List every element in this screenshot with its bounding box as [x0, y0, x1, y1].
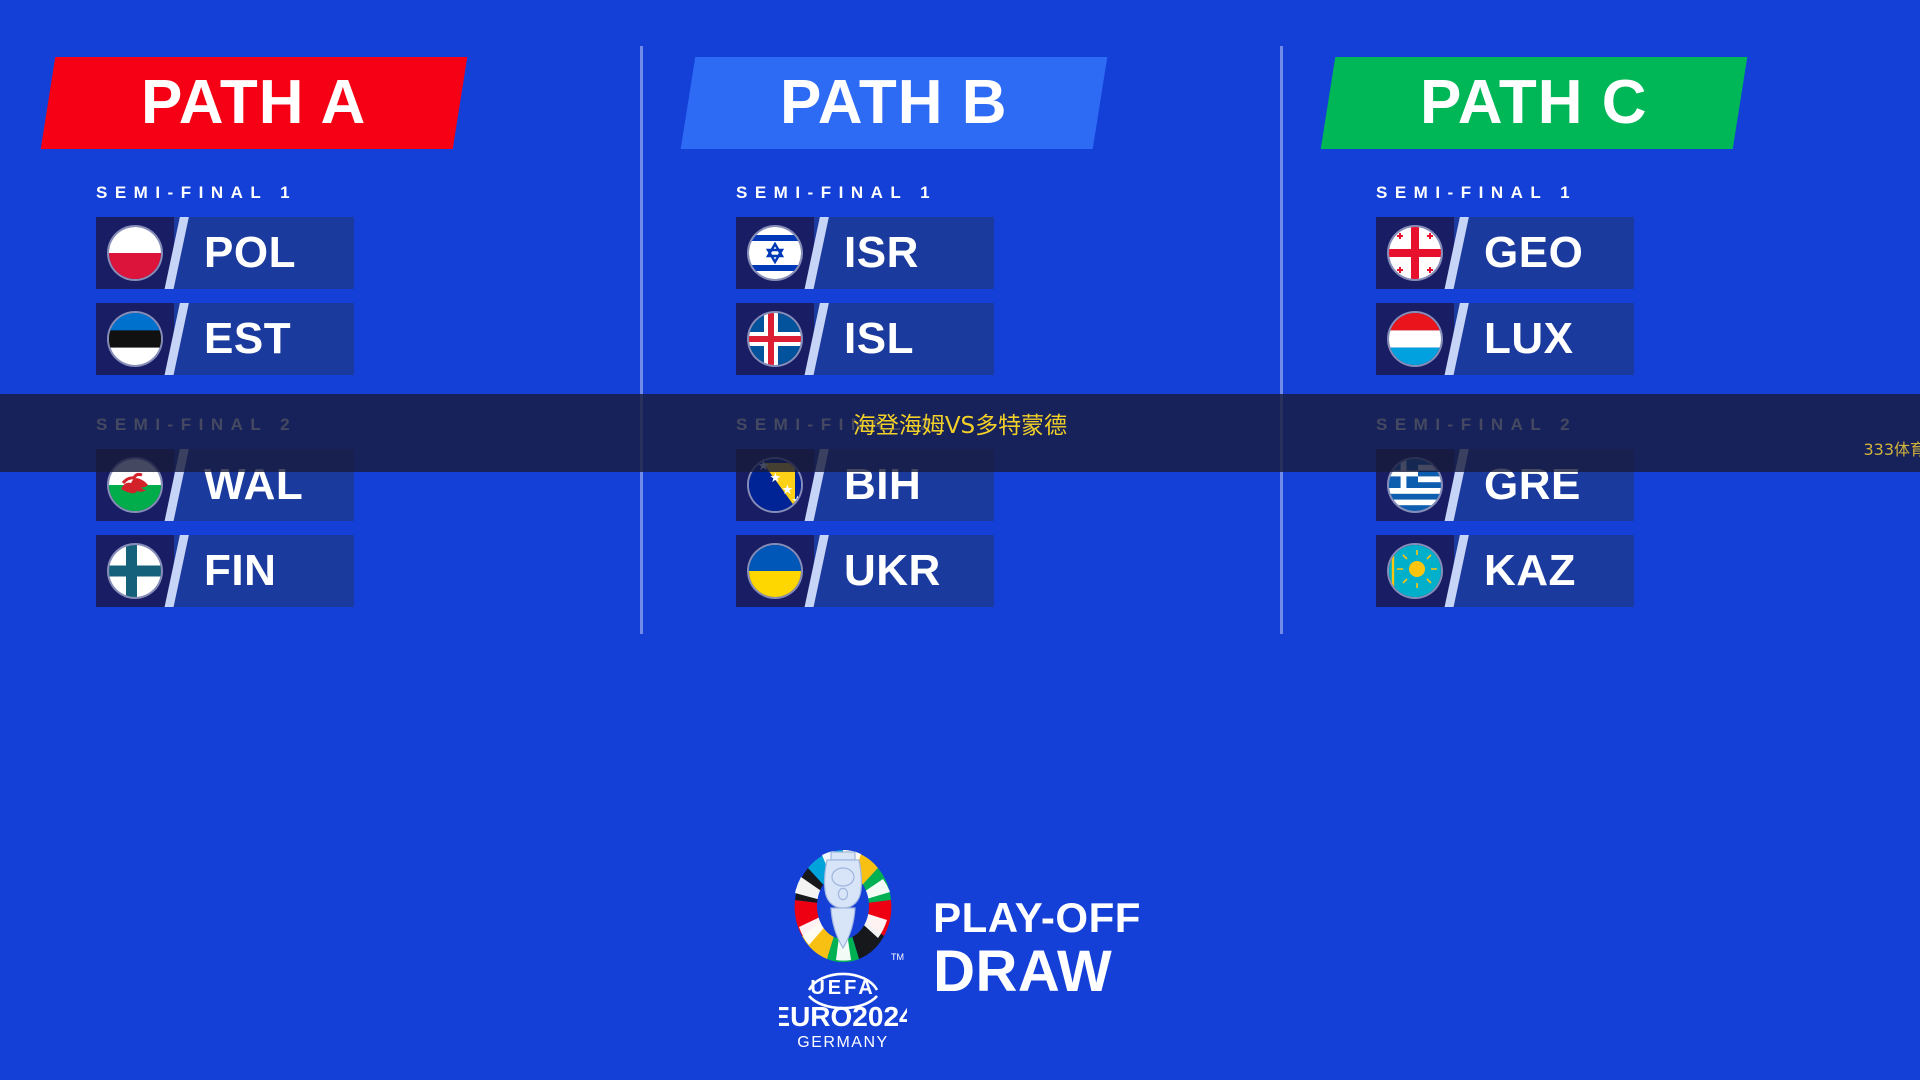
kazakhstan-flag-icon: [1389, 545, 1441, 597]
overlay-watermark-text: 333体育: [1863, 436, 1920, 460]
name-cell: POL: [174, 217, 354, 289]
path-a-header-label: PATH A: [141, 72, 366, 134]
flag-cell: [1376, 217, 1454, 289]
estonia-flag-icon: [109, 313, 161, 365]
georgia-flag-icon: [1389, 227, 1441, 279]
flag-cell: [96, 217, 174, 289]
israel-flag-icon: [749, 227, 801, 279]
brand-footer: TM UEFA EURO2024 GERMANY PLAY-OFF DRAW: [0, 818, 1920, 1080]
table-row[interactable]: UKR: [736, 535, 994, 607]
poland-flag-icon: [109, 227, 161, 279]
path-a-semifinal-1-label: SEMI-FINAL 1: [96, 183, 640, 203]
flag-cell: [736, 217, 814, 289]
flag-cell: [1376, 535, 1454, 607]
table-row[interactable]: GEO: [1376, 217, 1634, 289]
path-c-semifinal-1-label: SEMI-FINAL 1: [1376, 183, 1920, 203]
name-cell: LUX: [1454, 303, 1634, 375]
team-code: GEO: [1484, 231, 1583, 275]
team-code: ISL: [844, 317, 914, 361]
table-row[interactable]: FIN: [96, 535, 354, 607]
path-c-header-label: PATH C: [1420, 72, 1648, 134]
logo-tm-mark: TM: [891, 952, 904, 962]
flag-cell: [96, 535, 174, 607]
team-code: UKR: [844, 549, 941, 593]
name-cell: ISR: [814, 217, 994, 289]
uefa-euro-2024-trophy-logo: TM UEFA EURO2024 GERMANY: [779, 844, 907, 1054]
playoff-title-line1: PLAY-OFF: [933, 897, 1141, 939]
team-code: POL: [204, 231, 296, 275]
ukraine-flag-icon: [749, 545, 801, 597]
flag-cell: [736, 303, 814, 375]
logo-euro2024-text: EURO2024: [779, 1001, 907, 1032]
finland-flag-icon: [109, 545, 161, 597]
path-b-header: PATH B: [681, 57, 1108, 149]
team-code: FIN: [204, 549, 276, 593]
table-row[interactable]: ISR: [736, 217, 994, 289]
team-code: EST: [204, 317, 291, 361]
name-cell: UKR: [814, 535, 994, 607]
logo-germany-text: GERMANY: [797, 1034, 888, 1051]
name-cell: ISL: [814, 303, 994, 375]
name-cell: FIN: [174, 535, 354, 607]
table-row[interactable]: KAZ: [1376, 535, 1634, 607]
table-row[interactable]: POL: [96, 217, 354, 289]
svg-text:UEFA: UEFA: [810, 977, 875, 999]
playoff-draw-title: PLAY-OFF DRAW: [933, 897, 1141, 1001]
path-b-semifinal-1-label: SEMI-FINAL 1: [736, 183, 1280, 203]
flag-cell: [96, 303, 174, 375]
flag-cell: [1376, 303, 1454, 375]
name-cell: EST: [174, 303, 354, 375]
team-code: LUX: [1484, 317, 1574, 361]
column-divider-bc: [1280, 46, 1283, 634]
flag-cell: [736, 535, 814, 607]
table-row[interactable]: ISL: [736, 303, 994, 375]
luxembourg-flag-icon: [1389, 313, 1441, 365]
name-cell: GEO: [1454, 217, 1634, 289]
iceland-flag-icon: [749, 313, 801, 365]
name-cell: KAZ: [1454, 535, 1634, 607]
column-divider-ab: [640, 46, 643, 634]
playoff-title-line2: DRAW: [933, 943, 1141, 1001]
table-row[interactable]: EST: [96, 303, 354, 375]
overlay-caption-text: 海登海姆VS多特蒙德: [0, 406, 1920, 440]
table-row[interactable]: LUX: [1376, 303, 1634, 375]
team-code: ISR: [844, 231, 919, 275]
path-b-header-label: PATH B: [780, 72, 1008, 134]
broadcast-overlay-band: 海登海姆VS多特蒙德 333体育: [0, 394, 1920, 472]
path-a-header: PATH A: [41, 57, 468, 149]
path-c-header: PATH C: [1321, 57, 1748, 149]
team-code: KAZ: [1484, 549, 1576, 593]
